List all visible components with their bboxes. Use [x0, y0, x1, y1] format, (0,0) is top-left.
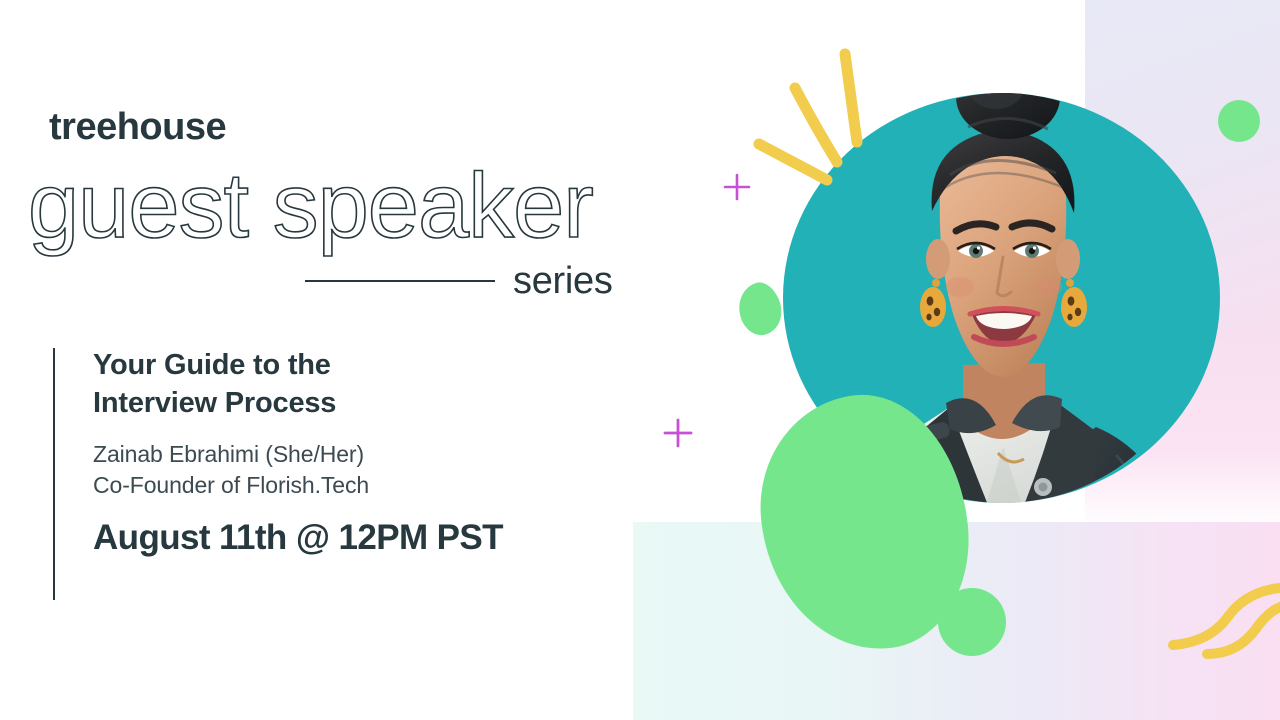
plus-icon — [662, 417, 694, 454]
svg-text:guest speaker: guest speaker — [28, 155, 593, 257]
yellow-rays-icon — [745, 40, 885, 190]
speaker-role: Co-Founder of Florish.Tech — [93, 470, 653, 501]
series-label: series — [513, 262, 613, 300]
talk-title: Your Guide to the Interview Process — [93, 346, 653, 423]
series-row: series — [305, 258, 635, 304]
talk-title-line-2: Interview Process — [93, 387, 336, 419]
poster-canvas: treehouse guest speaker series Your Guid… — [0, 0, 1280, 720]
green-blob-small — [732, 278, 788, 340]
event-datetime: August 11th @ 12PM PST — [93, 517, 653, 559]
display-title-outlined: guest speaker — [28, 155, 648, 260]
green-circle-top-right — [1218, 100, 1260, 142]
talk-title-line-1: Your Guide to the — [93, 349, 331, 381]
series-divider-rule — [305, 280, 495, 282]
detail-vertical-rule — [53, 348, 55, 600]
yellow-waves-icon — [1165, 580, 1280, 670]
brand-wordmark: treehouse — [49, 108, 226, 146]
content-column: treehouse guest speaker series Your Guid… — [0, 0, 660, 720]
plus-icon — [722, 172, 752, 207]
event-detail-text: Your Guide to the Interview Process Zain… — [93, 346, 653, 559]
green-circle-bottom — [938, 588, 1006, 656]
speaker-name: Zainab Ebrahimi (She/Her) — [93, 439, 653, 470]
